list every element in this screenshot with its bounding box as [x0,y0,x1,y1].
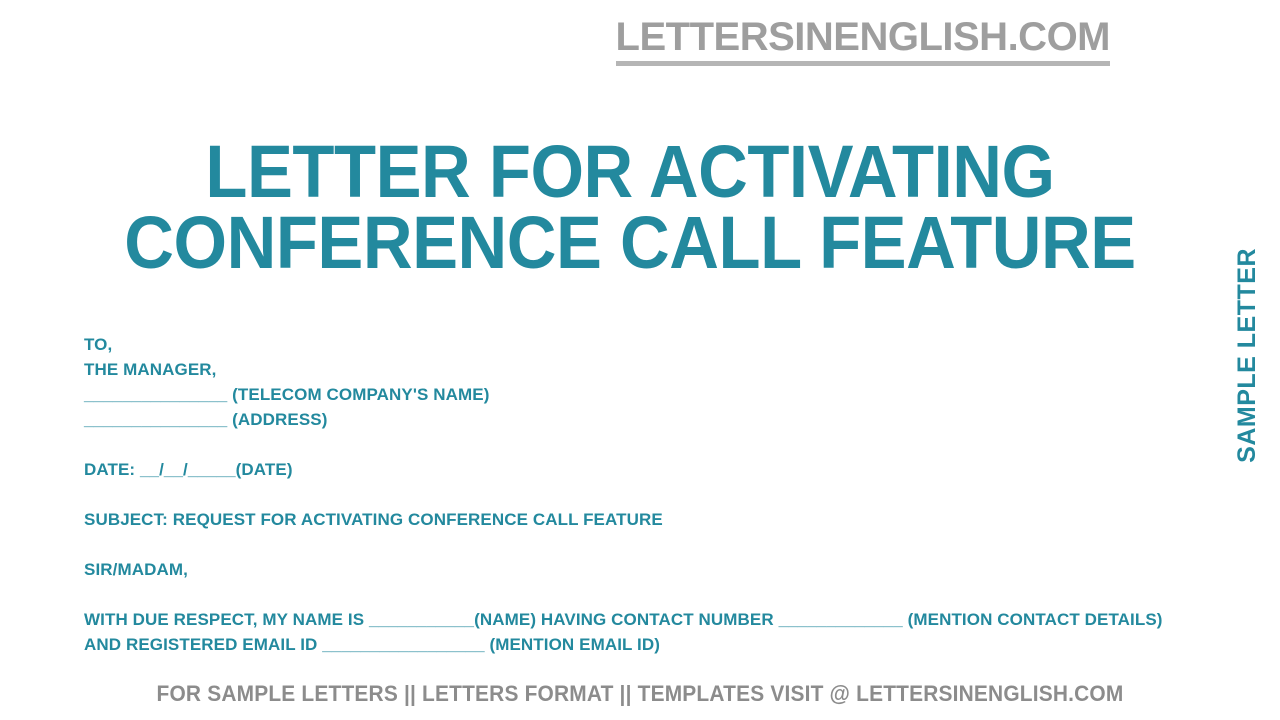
page-title-line-2: CONFERENCE CALL FEATURE [100,207,1160,279]
letter-body: TO, THE MANAGER, _______________ (TELECO… [84,332,1184,657]
recipient-block: TO, THE MANAGER, _______________ (TELECO… [84,332,1184,432]
page-title: LETTER FOR ACTIVATING CONFERENCE CALL FE… [100,136,1160,280]
site-name-underline-rule [616,61,1110,66]
subject-line: SUBJECT: REQUEST FOR ACTIVATING CONFEREN… [84,507,1184,532]
sample-letter-side-tag: SAMPLE LETTER [1233,248,1262,463]
date-block: DATE: __/__/_____(DATE) [84,457,1184,482]
recipient-designation: THE MANAGER, [84,357,1184,382]
page-title-line-1: LETTER FOR ACTIVATING [100,136,1160,208]
site-name: LETTERSINENGLISH.COM [616,16,1110,66]
site-name-text: LETTERSINENGLISH.COM [616,15,1110,59]
site-header: LETTERSINENGLISH.COM [0,16,1110,66]
date-line: DATE: __/__/_____(DATE) [84,457,1184,482]
salutation-block: SIR/MADAM, [84,557,1184,582]
site-footer: FOR SAMPLE LETTERS || LETTERS FORMAT || … [32,682,1248,706]
body-paragraph-block: WITH DUE RESPECT, MY NAME IS ___________… [84,607,1184,657]
recipient-company-blank: _______________ (TELECOM COMPANY'S NAME) [84,382,1184,407]
subject-block: SUBJECT: REQUEST FOR ACTIVATING CONFEREN… [84,507,1184,532]
recipient-to-label: TO, [84,332,1184,357]
body-paragraph: WITH DUE RESPECT, MY NAME IS ___________… [84,607,1184,657]
salutation-line: SIR/MADAM, [84,557,1184,582]
letter-template-page: LETTERSINENGLISH.COM LETTER FOR ACTIVATI… [0,0,1280,720]
recipient-address-blank: _______________ (ADDRESS) [84,407,1184,432]
